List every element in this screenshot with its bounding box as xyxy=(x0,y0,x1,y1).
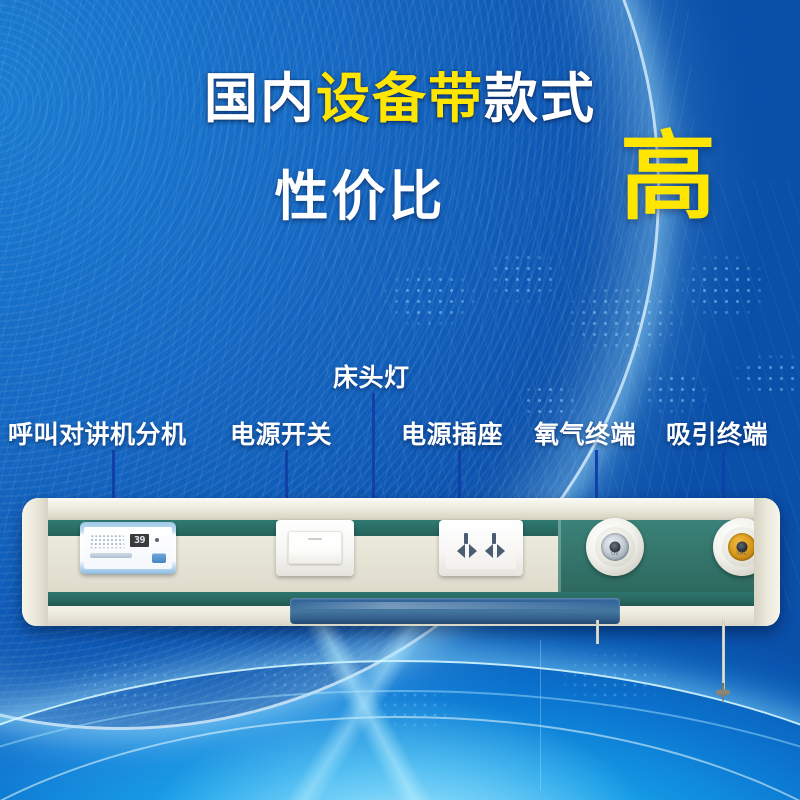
panel-body: 39 xyxy=(22,498,780,626)
oxygen-port-marking: O2 xyxy=(611,551,619,557)
headline-block: 国内设备带款式 性价比 高 xyxy=(0,70,800,232)
halftone-world-map xyxy=(380,230,800,490)
callout-label-bed-lamp: 床头灯 xyxy=(333,358,410,394)
bed-head-panel: 39 xyxy=(22,498,780,626)
outlet-live-pin xyxy=(457,544,465,558)
led-indicator-icon xyxy=(155,538,159,542)
callout-label-power-socket: 电源插座 xyxy=(401,415,503,451)
outlet-neutral-pin xyxy=(497,544,505,558)
suction-port-marking: VAC xyxy=(736,551,747,557)
rocker-switch-icon[interactable] xyxy=(288,531,342,564)
headline-big-word: 高 xyxy=(620,130,716,226)
diagonal-light-rays xyxy=(0,610,800,800)
intercom-faceplate: 39 xyxy=(84,527,172,569)
panel-top-lip xyxy=(22,498,780,520)
headline-highlight: 设备带 xyxy=(316,69,484,129)
headline-line-2: 性价比 高 xyxy=(0,146,800,232)
panel-end-cap-left xyxy=(22,498,48,626)
outlet-neutral-pin xyxy=(469,544,477,558)
universal-outlet-icon-2[interactable] xyxy=(480,533,510,561)
oxygen-terminal[interactable]: O2 xyxy=(586,518,644,576)
callout-label-intercom: 呼叫对讲机分机 xyxy=(8,415,187,451)
oxygen-port-icon[interactable]: O2 xyxy=(601,533,629,561)
headline-subtext: 性价比 xyxy=(275,152,446,231)
callout-label-suction: 吸引终端 xyxy=(666,415,768,451)
callout-label-power-switch: 电源开关 xyxy=(230,415,332,451)
socket-faceplate xyxy=(446,527,516,569)
power-switch[interactable] xyxy=(276,520,354,576)
universal-outlet-icon-1[interactable] xyxy=(452,533,482,561)
power-socket[interactable] xyxy=(439,520,523,576)
speaker-grille-icon xyxy=(89,534,124,548)
oxygen-hose-cord xyxy=(596,620,599,644)
headline-part-2: 款式 xyxy=(484,69,596,129)
suction-port-icon[interactable]: VAC xyxy=(728,533,756,561)
suction-hose-cord xyxy=(722,620,725,692)
headline-line-1: 国内设备带款式 xyxy=(0,70,800,128)
intercom-display: 39 xyxy=(130,534,149,547)
outlet-earth-pin xyxy=(492,533,496,544)
outlet-live-pin xyxy=(485,544,493,558)
outlet-earth-pin xyxy=(464,533,468,544)
panel-end-cap-right xyxy=(754,498,780,626)
nurse-call-intercom[interactable]: 39 xyxy=(80,522,176,574)
vertical-grid-line xyxy=(540,640,541,790)
speaker-slot-icon xyxy=(90,553,132,558)
panel-reflective-strip xyxy=(290,598,620,624)
call-button[interactable] xyxy=(152,553,166,563)
headline-part-1: 国内 xyxy=(204,69,316,129)
switch-marking xyxy=(308,538,322,540)
callout-label-oxygen: 氧气终端 xyxy=(534,415,636,451)
reflective-highlight xyxy=(290,602,620,609)
